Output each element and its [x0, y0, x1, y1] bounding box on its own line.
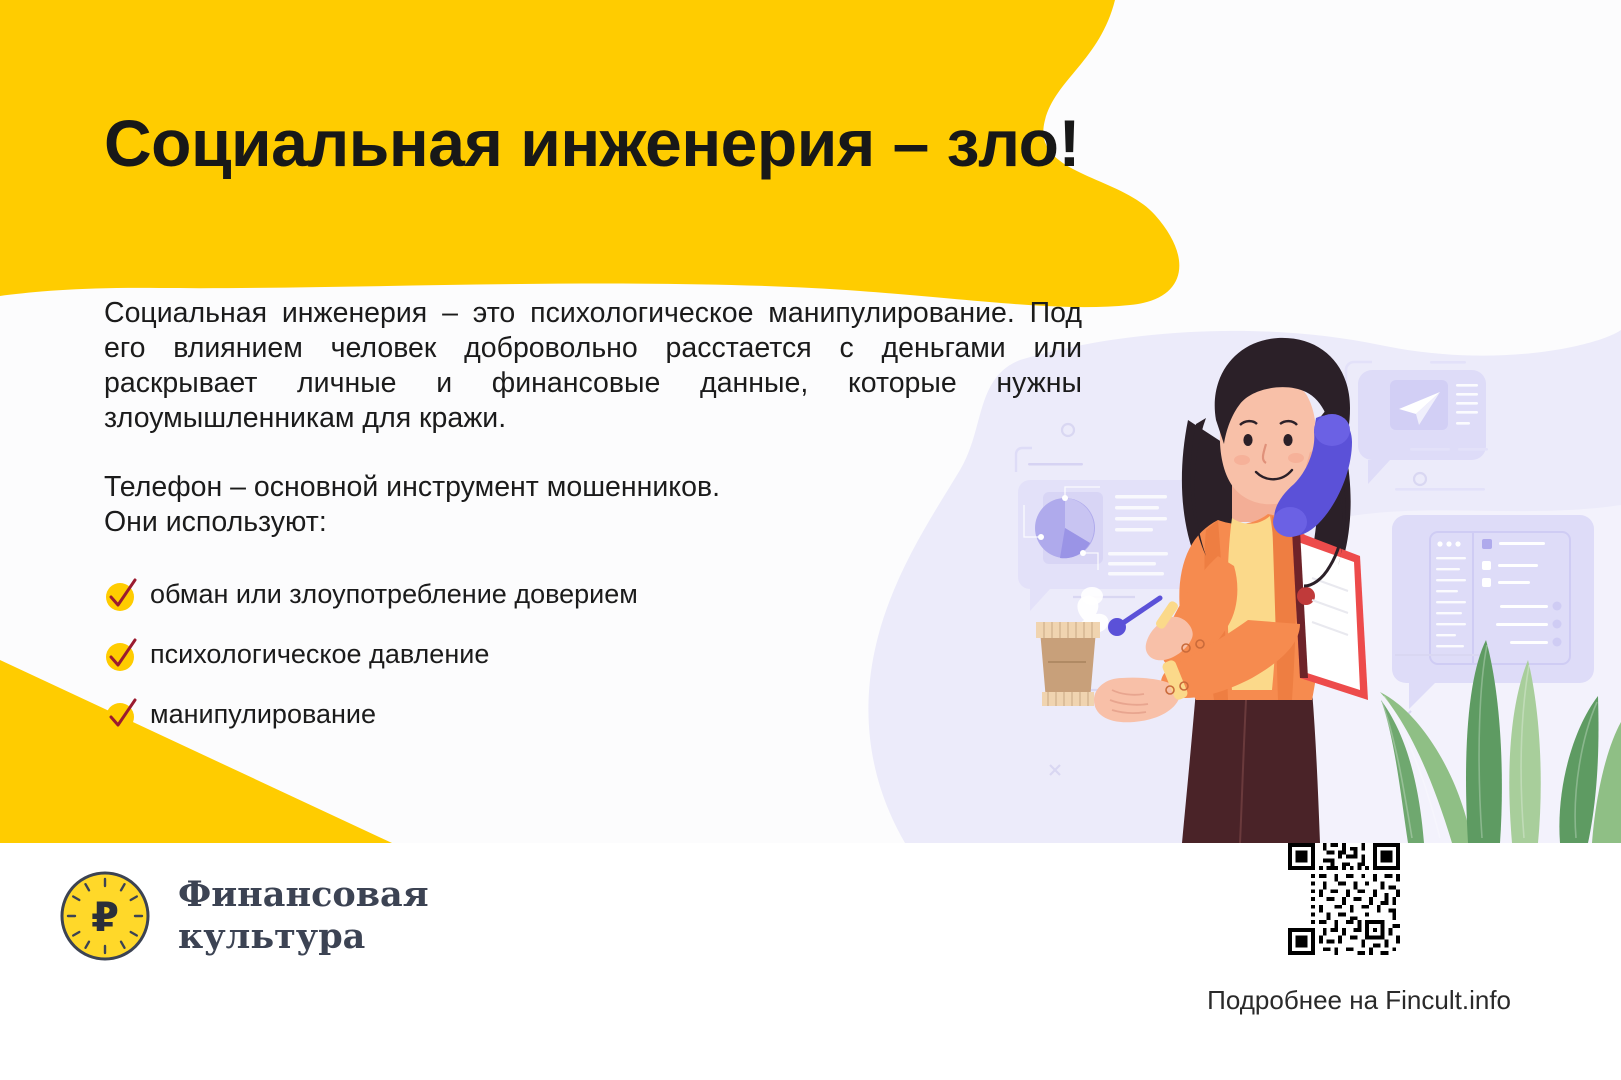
- red-folder: [1292, 530, 1368, 700]
- brand-logo[interactable]: ₽ Финансовая культура: [58, 869, 429, 963]
- list-item-label: манипулирование: [150, 700, 376, 730]
- ruble-coin-icon: ₽: [58, 869, 152, 963]
- eye-right: [1283, 434, 1292, 446]
- page-title: Социальная инженерия – зло!: [104, 110, 1164, 176]
- phone-lead-paragraph: Телефон – основной инструмент мошенников…: [104, 470, 904, 540]
- check-circle-icon: [104, 698, 138, 732]
- eye-left: [1243, 434, 1252, 446]
- coffee-cup: [1036, 622, 1100, 706]
- list-item-label: обман или злоупотребление доверием: [150, 580, 638, 610]
- skirt: [1182, 690, 1320, 843]
- check-circle-icon: [104, 578, 138, 612]
- svg-text:₽: ₽: [91, 895, 119, 941]
- check-circle-icon: [104, 638, 138, 672]
- qr-caption: Подробнее на Fincult.info: [1207, 985, 1511, 1016]
- poster-root: Социальная инженерия – зло! Социальная и…: [0, 0, 1621, 1080]
- qr-code-icon[interactable]: [1288, 843, 1400, 955]
- list-item-label: психологическое давление: [150, 640, 489, 670]
- intro-paragraph: Социальная инженерия – это психологическ…: [104, 296, 1082, 436]
- list-item: обман или злоупотребление доверием: [104, 565, 884, 625]
- list-item: манипулирование: [104, 685, 884, 745]
- list-item: психологическое давление: [104, 625, 884, 685]
- brand-logo-text: Финансовая культура: [178, 874, 429, 958]
- tactics-checklist: обман или злоупотребление доверием психо…: [104, 565, 884, 745]
